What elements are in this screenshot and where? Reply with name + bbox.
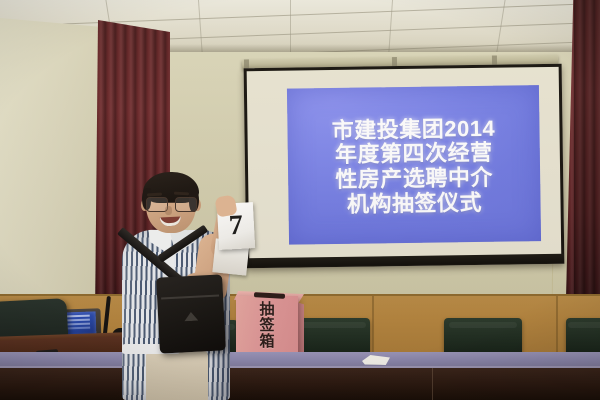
chair-back[interactable] — [444, 318, 522, 356]
wainscot-seam — [372, 296, 374, 358]
trousers — [146, 350, 208, 400]
wainscot-seam — [556, 296, 558, 358]
messenger-bag[interactable] — [156, 274, 226, 353]
slide-line-3: 性房产选聘中介 — [335, 167, 493, 192]
conference-room-photo: 市建投集团2014 年度第四次经营 性房产选聘中介 机构抽签仪式 抽 签 箱 — [0, 0, 600, 400]
bag-logo-icon — [184, 312, 198, 322]
lottery-number: 7 — [228, 212, 243, 241]
presenter: 7 — [110, 168, 270, 400]
chair-back[interactable] — [566, 318, 600, 356]
glasses-lens-right — [175, 197, 197, 212]
slide-line-2: 年度第四次经营 — [335, 142, 493, 167]
table-panel-seam — [432, 368, 433, 400]
bag-flap-line — [161, 295, 219, 300]
curtain-right-inner — [574, 0, 600, 300]
hand-upper — [214, 194, 237, 217]
projected-slide: 市建投集团2014 年度第四次经营 性房产选聘中介 机构抽签仪式 — [287, 85, 541, 245]
projection-screen: 市建投集团2014 年度第四次经营 性房产选聘中介 机构抽签仪式 — [244, 64, 565, 268]
glasses-bridge — [166, 202, 175, 203]
conference-table-front — [0, 368, 600, 400]
slide-line-1: 市建投集团2014 — [332, 117, 496, 142]
slide-line-4: 机构抽签仪式 — [347, 192, 482, 217]
chair-back[interactable] — [296, 318, 370, 356]
nose — [165, 206, 172, 215]
